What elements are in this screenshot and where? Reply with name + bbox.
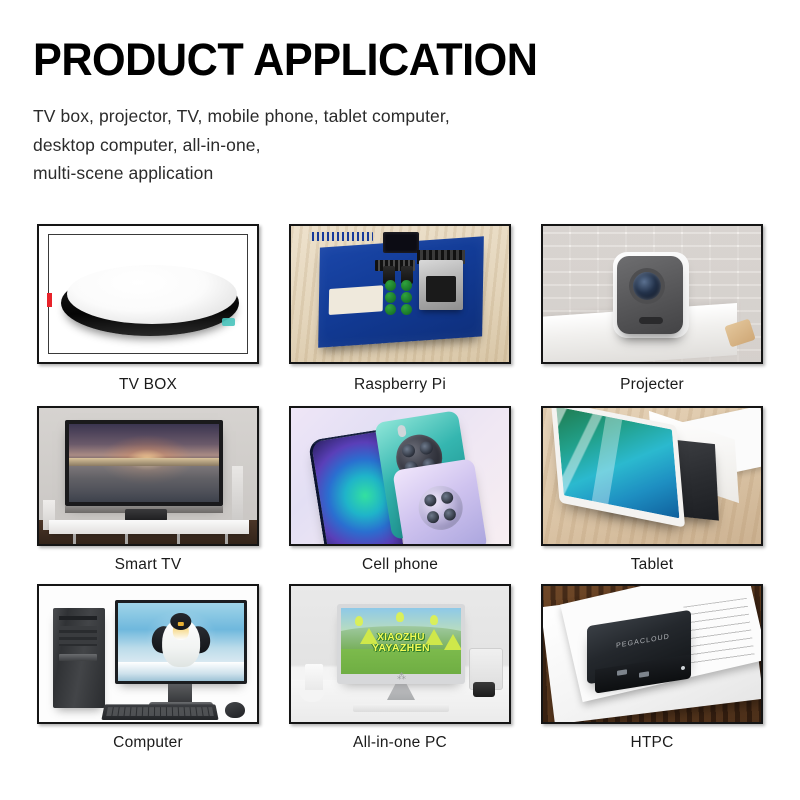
htpc-image[interactable]: PEGACLOUD bbox=[541, 584, 763, 724]
tv-box-teal-port bbox=[222, 318, 235, 326]
floor-speaker-right bbox=[232, 466, 243, 528]
tv-screen-landscape bbox=[69, 424, 219, 502]
raspberry-pi-scene bbox=[291, 226, 509, 362]
mouse bbox=[225, 702, 245, 718]
tablet-scene bbox=[543, 408, 761, 544]
screen-text-line-2: YAYAZHEN bbox=[341, 643, 461, 654]
caption-tablet: Tablet bbox=[541, 546, 763, 584]
ethernet-port bbox=[419, 260, 463, 310]
gallery-item-raspberry-pi[interactable]: Raspberry Pi bbox=[289, 224, 511, 406]
caption-cell-phone: Cell phone bbox=[289, 546, 511, 584]
screen-balloon bbox=[396, 612, 404, 622]
cell-phone-scene bbox=[291, 408, 509, 544]
tablet-image[interactable] bbox=[541, 406, 763, 546]
tv-box-lid bbox=[67, 264, 237, 324]
apple-logo-icon: ⁂ bbox=[397, 672, 405, 681]
desk-camera bbox=[473, 682, 495, 697]
gallery-item-cell-phone[interactable]: Cell phone bbox=[289, 406, 511, 584]
monitor bbox=[115, 600, 247, 684]
console-leg bbox=[125, 534, 128, 545]
projector-scene bbox=[543, 226, 761, 362]
gallery-item-smart-tv[interactable]: Smart TV bbox=[37, 406, 259, 584]
camera-module-purple bbox=[416, 483, 466, 533]
console-leg bbox=[225, 534, 228, 545]
camera-flash bbox=[397, 425, 407, 438]
projector-vent bbox=[639, 317, 663, 324]
gallery-item-computer[interactable]: Computer bbox=[37, 584, 259, 762]
page-title: PRODUCT APPLICATION bbox=[33, 36, 769, 83]
projector-image[interactable] bbox=[541, 224, 763, 364]
pcb-pin-header bbox=[309, 232, 373, 241]
screen-balloon bbox=[355, 616, 363, 626]
caption-smart-tv: Smart TV bbox=[37, 546, 259, 584]
subtitle-line-2: desktop computer, all-in-one, bbox=[33, 131, 800, 159]
gallery-item-htpc[interactable]: PEGACLOUD HTPC bbox=[541, 584, 763, 762]
projector-lens bbox=[633, 272, 661, 300]
application-gallery-grid: TV BOX Raspb bbox=[37, 224, 763, 762]
caption-raspberry-pi: Raspberry Pi bbox=[289, 364, 511, 406]
monitor-screen-penguin bbox=[118, 603, 244, 681]
console-leg bbox=[177, 534, 180, 545]
phone-purple-back bbox=[392, 458, 487, 546]
all-in-one-scene: XIAOZHU YAYAZHEN ⁂ bbox=[291, 586, 509, 722]
screen-balloon bbox=[430, 615, 438, 625]
page-subtitle: TV box, projector, TV, mobile phone, tab… bbox=[33, 102, 800, 187]
gallery-item-all-in-one-pc[interactable]: XIAOZHU YAYAZHEN ⁂ All-in-one PC bbox=[289, 584, 511, 762]
caption-htpc: HTPC bbox=[541, 724, 763, 762]
caption-projector: Projecter bbox=[541, 364, 763, 406]
subtitle-line-1: TV box, projector, TV, mobile phone, tab… bbox=[33, 102, 800, 130]
penguin-beak bbox=[178, 622, 184, 627]
pcb-green-terminals bbox=[385, 280, 413, 314]
all-in-one-screen: XIAOZHU YAYAZHEN bbox=[341, 608, 461, 674]
product-application-page: PRODUCT APPLICATION TV box, projector, T… bbox=[0, 0, 800, 800]
gallery-item-projector[interactable]: Projecter bbox=[541, 224, 763, 406]
tv-box-image[interactable] bbox=[37, 224, 259, 364]
cell-phone-image[interactable] bbox=[289, 406, 511, 546]
keyboard bbox=[101, 704, 218, 720]
caption-tv-box: TV BOX bbox=[37, 364, 259, 406]
caption-all-in-one-pc: All-in-one PC bbox=[289, 724, 511, 762]
computer-image[interactable] bbox=[37, 584, 259, 724]
projector-body bbox=[617, 256, 683, 334]
desktop-tower bbox=[53, 608, 105, 708]
smart-tv-scene bbox=[39, 408, 257, 544]
computer-scene bbox=[39, 586, 257, 722]
wireless-keyboard bbox=[353, 704, 449, 712]
tablet-screen bbox=[556, 407, 679, 519]
screen-brand-text: XIAOZHU YAYAZHEN bbox=[341, 633, 461, 654]
all-in-one-pc-image[interactable]: XIAOZHU YAYAZHEN ⁂ bbox=[289, 584, 511, 724]
monitor-neck bbox=[168, 684, 192, 702]
page-header: PRODUCT APPLICATION TV box, projector, T… bbox=[0, 0, 800, 187]
all-in-one-monitor: XIAOZHU YAYAZHEN ⁂ bbox=[337, 604, 465, 684]
htpc-scene: PEGACLOUD bbox=[543, 586, 761, 722]
tv-box-red-indicator bbox=[47, 293, 52, 307]
pcb-chip bbox=[383, 232, 419, 253]
tv-box-scene bbox=[39, 226, 257, 362]
subtitle-line-3: multi-scene application bbox=[33, 159, 800, 187]
caption-computer: Computer bbox=[37, 724, 259, 762]
tv-panel bbox=[65, 420, 223, 506]
gallery-item-tablet[interactable]: Tablet bbox=[541, 406, 763, 584]
gallery-item-tv-box[interactable]: TV BOX bbox=[37, 224, 259, 406]
paper-text-lines bbox=[683, 598, 754, 664]
tower-drive-bays bbox=[59, 626, 97, 646]
console-leg bbox=[73, 534, 76, 545]
raspberry-pi-image[interactable] bbox=[289, 224, 511, 364]
smart-tv-image[interactable] bbox=[37, 406, 259, 546]
media-console bbox=[49, 520, 249, 534]
